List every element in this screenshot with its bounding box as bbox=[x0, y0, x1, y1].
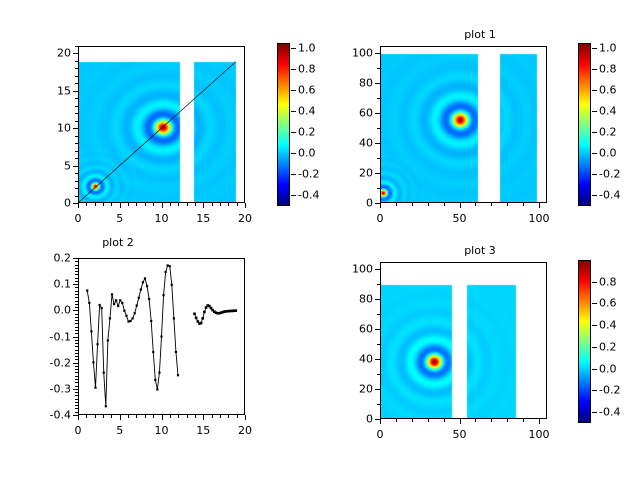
line-data-point bbox=[148, 298, 150, 300]
y-axis-minor-tick bbox=[75, 143, 78, 144]
y-axis-minor-tick bbox=[377, 68, 380, 69]
x-axis-minor-tick bbox=[128, 203, 129, 206]
panel-top-right-title: plot 1 bbox=[320, 28, 640, 41]
x-axis-minor-tick bbox=[178, 415, 179, 418]
line-data-point bbox=[156, 388, 158, 390]
y-axis-minor-tick bbox=[377, 344, 380, 345]
y-axis-tick-label: -0.2 bbox=[30, 356, 71, 369]
line-data-point bbox=[101, 307, 103, 309]
x-axis-minor-tick bbox=[428, 419, 429, 422]
x-axis-minor-tick bbox=[396, 419, 397, 422]
line-data-point bbox=[123, 310, 125, 312]
y-axis-tick-label: 80 bbox=[332, 293, 373, 306]
y-axis-tick-label: 15 bbox=[30, 84, 71, 97]
y-axis-minor-tick bbox=[75, 106, 78, 107]
x-axis-minor-tick bbox=[170, 415, 171, 418]
x-axis-minor-tick bbox=[187, 415, 188, 418]
line-data-point bbox=[92, 361, 94, 363]
line-data-point bbox=[111, 293, 113, 295]
colorbar-tick bbox=[592, 195, 597, 196]
colorbar-tick-label: -0.2 bbox=[599, 384, 620, 397]
x-axis-minor-tick bbox=[237, 415, 238, 418]
y-axis-minor-tick bbox=[75, 258, 78, 259]
x-axis-minor-tick bbox=[86, 415, 87, 418]
line-data-point bbox=[96, 343, 98, 345]
y-axis-tick-label: 40 bbox=[332, 137, 373, 150]
x-axis-minor-tick bbox=[162, 203, 163, 206]
line-data-point bbox=[146, 285, 148, 287]
panel-top-right: plot 1 020406080100050100 1.00.80.60.40.… bbox=[320, 0, 640, 240]
y-axis-minor-tick bbox=[75, 297, 78, 298]
y-axis-minor-tick bbox=[377, 284, 380, 285]
colorbar-tick bbox=[592, 48, 597, 49]
colorbar-tick bbox=[592, 111, 597, 112]
x-axis-minor-tick bbox=[162, 415, 163, 418]
x-axis-minor-tick bbox=[103, 203, 104, 206]
y-axis-minor-tick bbox=[75, 317, 78, 318]
y-axis-minor-tick bbox=[377, 83, 380, 84]
y-axis-minor-tick bbox=[75, 356, 78, 357]
line-data-point bbox=[129, 320, 131, 322]
y-axis-minor-tick bbox=[75, 281, 78, 282]
line-data-point bbox=[200, 322, 203, 325]
line-data-point bbox=[99, 304, 101, 306]
x-axis-tick-label: 0 bbox=[75, 212, 82, 225]
line-data-point bbox=[117, 305, 119, 307]
line-data-point bbox=[150, 320, 152, 322]
y-axis-minor-tick bbox=[75, 278, 78, 279]
line-data-point bbox=[113, 303, 115, 305]
panel-bottom-right-heatmap bbox=[381, 263, 546, 418]
x-axis-minor-tick bbox=[136, 203, 137, 206]
panel-bottom-left: plot 2 0.20.10.0-0.1-0.2-0.3-0.405101520 bbox=[0, 240, 320, 480]
colorbar-tick-label: 0.8 bbox=[599, 63, 617, 76]
x-axis-minor-tick bbox=[153, 415, 154, 418]
panel-top-right-heatmap bbox=[381, 47, 546, 202]
y-axis-minor-tick bbox=[75, 181, 78, 182]
line-data-point bbox=[165, 271, 167, 273]
y-axis-minor-tick bbox=[75, 386, 78, 387]
colorbar-tick bbox=[291, 111, 296, 112]
colorbar-tick bbox=[592, 90, 597, 91]
y-axis-minor-tick bbox=[75, 408, 78, 409]
line-series-path bbox=[195, 306, 236, 324]
line-data-point bbox=[134, 312, 136, 314]
colorbar-tick bbox=[291, 69, 296, 70]
colorbar-tick bbox=[291, 48, 296, 49]
colorbar-tick-label: 0.8 bbox=[298, 63, 316, 76]
x-axis-minor-tick bbox=[412, 203, 413, 206]
colorbar-tick-label: 0.0 bbox=[599, 362, 617, 375]
colorbar-tick-label: 0.6 bbox=[298, 84, 316, 97]
y-axis-minor-tick bbox=[75, 301, 78, 302]
x-axis-minor-tick bbox=[95, 415, 96, 418]
x-axis-minor-tick bbox=[491, 419, 492, 422]
y-axis-minor-tick bbox=[75, 372, 78, 373]
y-axis-minor-tick bbox=[75, 166, 78, 167]
y-axis-tick-label: 0.2 bbox=[30, 252, 71, 265]
y-axis-minor-tick bbox=[377, 188, 380, 189]
y-axis-minor-tick bbox=[75, 196, 78, 197]
y-axis-minor-tick bbox=[75, 271, 78, 272]
colorbar-tick-label: 0.2 bbox=[599, 340, 617, 353]
line-data-point bbox=[140, 288, 142, 290]
colorbar-tick bbox=[291, 153, 296, 154]
line-data-point bbox=[171, 284, 173, 286]
x-axis-minor-tick bbox=[396, 203, 397, 206]
x-axis-minor-tick bbox=[523, 419, 524, 422]
x-axis-tick-label: 10 bbox=[155, 424, 169, 437]
line-series-path bbox=[87, 265, 178, 406]
y-axis-minor-tick bbox=[377, 53, 380, 54]
x-axis-minor-tick bbox=[220, 415, 221, 418]
line-data-point bbox=[234, 309, 237, 312]
panel-top-left-diagonal-line bbox=[79, 47, 244, 202]
x-axis-minor-tick bbox=[380, 419, 381, 422]
x-axis-minor-tick bbox=[245, 203, 246, 206]
y-axis-minor-tick bbox=[75, 314, 78, 315]
y-axis-minor-tick bbox=[75, 399, 78, 400]
colorbar-tick-label: 0.8 bbox=[599, 275, 617, 288]
x-axis-minor-tick bbox=[86, 203, 87, 206]
x-axis-tick-label: 20 bbox=[238, 212, 252, 225]
line-data-point bbox=[109, 317, 111, 319]
x-axis-minor-tick bbox=[120, 415, 121, 418]
colorbar-tick-label: 0.0 bbox=[298, 147, 316, 160]
colorbar-tick-label: -0.4 bbox=[599, 189, 620, 202]
y-axis-tick-label: 0 bbox=[30, 197, 71, 210]
y-axis-tick-label: 10 bbox=[30, 122, 71, 135]
line-data-point bbox=[173, 317, 175, 319]
y-axis-minor-tick bbox=[75, 337, 78, 338]
y-axis-minor-tick bbox=[75, 113, 78, 114]
colorbar-tick bbox=[592, 325, 597, 326]
y-axis-minor-tick bbox=[75, 188, 78, 189]
y-axis-minor-tick bbox=[75, 53, 78, 54]
y-axis-minor-tick bbox=[75, 91, 78, 92]
line-data-point bbox=[167, 264, 169, 266]
y-axis-minor-tick bbox=[377, 158, 380, 159]
line-data-point bbox=[201, 317, 204, 320]
line-data-point bbox=[154, 379, 156, 381]
x-axis-minor-tick bbox=[212, 203, 213, 206]
colorbar-tick bbox=[592, 69, 597, 70]
x-axis-minor-tick bbox=[103, 415, 104, 418]
y-axis-minor-tick bbox=[75, 121, 78, 122]
x-axis-minor-tick bbox=[507, 203, 508, 206]
x-axis-minor-tick bbox=[444, 419, 445, 422]
x-axis-tick-label: 0 bbox=[377, 428, 384, 441]
colorbar-tick-label: 0.4 bbox=[599, 319, 617, 332]
x-axis-minor-tick bbox=[412, 419, 413, 422]
colorbar-tick-label: 1.0 bbox=[599, 42, 617, 55]
y-axis-minor-tick bbox=[75, 173, 78, 174]
line-data-point bbox=[144, 277, 146, 279]
y-axis-tick-label: 100 bbox=[332, 263, 373, 276]
y-axis-minor-tick bbox=[75, 359, 78, 360]
line-data-point bbox=[107, 339, 109, 341]
x-axis-minor-tick bbox=[195, 415, 196, 418]
x-axis-minor-tick bbox=[111, 203, 112, 206]
colorbar-tick-label: 0.2 bbox=[298, 126, 316, 139]
y-axis-tick-label: 20 bbox=[332, 167, 373, 180]
panel-bottom-right-title: plot 3 bbox=[320, 244, 640, 257]
y-axis-minor-tick bbox=[377, 143, 380, 144]
y-axis-minor-tick bbox=[75, 402, 78, 403]
line-data-point bbox=[121, 302, 123, 304]
y-axis-minor-tick bbox=[75, 268, 78, 269]
y-axis-minor-tick bbox=[75, 291, 78, 292]
x-axis-tick-label: 5 bbox=[116, 212, 123, 225]
y-axis-minor-tick bbox=[75, 327, 78, 328]
y-axis-minor-tick bbox=[75, 128, 78, 129]
colorbar-tick bbox=[291, 132, 296, 133]
x-axis-minor-tick bbox=[475, 203, 476, 206]
colorbar-tick-label: -0.4 bbox=[599, 406, 620, 419]
line-data-point bbox=[195, 317, 198, 320]
y-axis-minor-tick bbox=[75, 307, 78, 308]
x-axis-minor-tick bbox=[444, 203, 445, 206]
colorbar-tick bbox=[592, 369, 597, 370]
y-axis-minor-tick bbox=[377, 359, 380, 360]
colorbar-tick-label: -0.4 bbox=[298, 189, 319, 202]
colorbar-tick-label: 0.0 bbox=[599, 147, 617, 160]
x-axis-tick-label: 15 bbox=[196, 212, 210, 225]
x-axis-tick-label: 50 bbox=[453, 212, 467, 225]
y-axis-minor-tick bbox=[75, 294, 78, 295]
y-axis-tick-label: -0.4 bbox=[30, 409, 71, 422]
line-data-point bbox=[162, 294, 164, 296]
y-axis-minor-tick bbox=[75, 61, 78, 62]
line-data-point bbox=[119, 299, 121, 301]
y-axis-tick-label: 0 bbox=[332, 413, 373, 426]
y-axis-tick-label: -0.1 bbox=[30, 330, 71, 343]
colorbar-tick bbox=[291, 90, 296, 91]
y-axis-minor-tick bbox=[75, 46, 78, 47]
colorbar-tick-label: -0.2 bbox=[298, 168, 319, 181]
line-data-point bbox=[127, 320, 129, 322]
x-axis-minor-tick bbox=[380, 203, 381, 206]
x-axis-minor-tick bbox=[95, 203, 96, 206]
x-axis-tick-label: 10 bbox=[155, 212, 169, 225]
y-axis-minor-tick bbox=[75, 350, 78, 351]
x-axis-minor-tick bbox=[78, 203, 79, 206]
x-axis-minor-tick bbox=[203, 415, 204, 418]
colorbar-tick-label: 0.4 bbox=[599, 105, 617, 118]
line-data-point bbox=[115, 299, 117, 301]
y-axis-tick-label: -0.3 bbox=[30, 382, 71, 395]
line-data-point bbox=[175, 351, 177, 353]
y-axis-minor-tick bbox=[75, 136, 78, 137]
line-data-point bbox=[136, 304, 138, 306]
colorbar-tick bbox=[592, 347, 597, 348]
y-axis-tick-label: 0 bbox=[332, 197, 373, 210]
y-axis-minor-tick bbox=[377, 113, 380, 114]
x-axis-minor-tick bbox=[145, 415, 146, 418]
y-axis-minor-tick bbox=[75, 340, 78, 341]
figure-canvas: 0510152005101520 1.00.80.60.40.20.0-0.2-… bbox=[0, 0, 640, 480]
x-axis-tick-label: 100 bbox=[529, 428, 550, 441]
x-axis-minor-tick bbox=[539, 419, 540, 422]
y-axis-minor-tick bbox=[377, 389, 380, 390]
x-axis-minor-tick bbox=[170, 203, 171, 206]
colorbar-tick-label: 0.6 bbox=[599, 84, 617, 97]
line-data-point bbox=[142, 281, 144, 283]
y-axis-tick-label: 0.1 bbox=[30, 278, 71, 291]
colorbar-tick-label: 1.0 bbox=[298, 42, 316, 55]
y-axis-minor-tick bbox=[75, 330, 78, 331]
x-axis-minor-tick bbox=[78, 415, 79, 418]
x-axis-minor-tick bbox=[475, 419, 476, 422]
colorbar-tick bbox=[592, 282, 597, 283]
y-axis-minor-tick bbox=[75, 405, 78, 406]
y-axis-minor-tick bbox=[75, 158, 78, 159]
x-axis-tick-label: 100 bbox=[529, 212, 550, 225]
y-axis-minor-tick bbox=[377, 314, 380, 315]
x-axis-minor-tick bbox=[245, 415, 246, 418]
x-axis-minor-tick bbox=[228, 203, 229, 206]
colorbar-tick-label: 0.4 bbox=[298, 105, 316, 118]
colorbar-tick bbox=[291, 195, 296, 196]
y-axis-minor-tick bbox=[377, 98, 380, 99]
x-axis-minor-tick bbox=[220, 203, 221, 206]
colorbar-tick bbox=[592, 412, 597, 413]
x-axis-minor-tick bbox=[460, 419, 461, 422]
y-axis-minor-tick bbox=[75, 343, 78, 344]
x-axis-minor-tick bbox=[428, 203, 429, 206]
y-axis-minor-tick bbox=[75, 353, 78, 354]
colorbar-tick bbox=[592, 153, 597, 154]
line-data-point bbox=[152, 351, 154, 353]
panel-top-left: 0510152005101520 1.00.80.60.40.20.0-0.2-… bbox=[0, 0, 320, 240]
y-axis-minor-tick bbox=[75, 376, 78, 377]
y-axis-tick-label: 20 bbox=[332, 383, 373, 396]
line-data-point bbox=[86, 289, 88, 291]
colorbar-tick bbox=[291, 174, 296, 175]
y-axis-minor-tick bbox=[377, 269, 380, 270]
y-axis-tick-label: 60 bbox=[332, 323, 373, 336]
y-axis-minor-tick bbox=[75, 287, 78, 288]
line-data-point bbox=[169, 265, 171, 267]
panel-bottom-right-colorbar bbox=[578, 260, 591, 423]
colorbar-tick bbox=[592, 390, 597, 391]
y-axis-minor-tick bbox=[75, 265, 78, 266]
y-axis-minor-tick bbox=[75, 379, 78, 380]
line-data-point bbox=[103, 372, 105, 374]
x-axis-tick-label: 15 bbox=[196, 424, 210, 437]
y-axis-tick-label: 5 bbox=[30, 159, 71, 172]
y-axis-tick-label: 100 bbox=[332, 47, 373, 60]
line-data-point bbox=[132, 317, 134, 319]
line-data-point bbox=[138, 297, 140, 299]
y-axis-tick-label: 80 bbox=[332, 77, 373, 90]
x-axis-minor-tick bbox=[507, 419, 508, 422]
y-axis-tick-label: 0.0 bbox=[30, 304, 71, 317]
colorbar-tick-label: 0.2 bbox=[599, 126, 617, 139]
colorbar-tick-label: 0.6 bbox=[599, 297, 617, 310]
y-axis-minor-tick bbox=[75, 412, 78, 413]
line-data-point bbox=[177, 374, 179, 376]
y-axis-tick-label: 40 bbox=[332, 353, 373, 366]
colorbar-tick bbox=[592, 174, 597, 175]
y-axis-minor-tick bbox=[75, 333, 78, 334]
line-data-point bbox=[158, 372, 160, 374]
x-axis-minor-tick bbox=[203, 203, 204, 206]
x-axis-minor-tick bbox=[212, 415, 213, 418]
x-axis-tick-label: 0 bbox=[75, 424, 82, 437]
x-axis-minor-tick bbox=[460, 203, 461, 206]
panel-bottom-left-title: plot 2 bbox=[0, 236, 278, 249]
line-data-point bbox=[90, 330, 92, 332]
x-axis-tick-label: 50 bbox=[453, 428, 467, 441]
x-axis-tick-label: 5 bbox=[116, 424, 123, 437]
line-data-point bbox=[193, 312, 196, 315]
y-axis-minor-tick bbox=[75, 323, 78, 324]
y-axis-minor-tick bbox=[75, 346, 78, 347]
y-axis-minor-tick bbox=[75, 320, 78, 321]
y-axis-minor-tick bbox=[75, 363, 78, 364]
x-axis-minor-tick bbox=[237, 203, 238, 206]
y-axis-minor-tick bbox=[377, 128, 380, 129]
x-axis-minor-tick bbox=[523, 203, 524, 206]
panel-top-left-colorbar bbox=[277, 43, 290, 206]
y-axis-minor-tick bbox=[377, 299, 380, 300]
y-axis-minor-tick bbox=[75, 261, 78, 262]
x-axis-minor-tick bbox=[136, 415, 137, 418]
x-axis-minor-tick bbox=[153, 203, 154, 206]
line-data-point bbox=[94, 387, 96, 389]
y-axis-minor-tick bbox=[75, 274, 78, 275]
colorbar-tick bbox=[592, 303, 597, 304]
line-data-point bbox=[88, 302, 90, 304]
y-axis-minor-tick bbox=[75, 151, 78, 152]
line-data-point bbox=[105, 405, 107, 407]
y-axis-minor-tick bbox=[75, 68, 78, 69]
y-axis-minor-tick bbox=[75, 366, 78, 367]
line-data-point bbox=[125, 315, 127, 317]
y-axis-minor-tick bbox=[75, 310, 78, 311]
y-axis-minor-tick bbox=[75, 395, 78, 396]
x-axis-minor-tick bbox=[178, 203, 179, 206]
x-axis-minor-tick bbox=[145, 203, 146, 206]
y-axis-minor-tick bbox=[377, 404, 380, 405]
panel-bottom-right: plot 3 020406080100050100 0.80.60.40.20.… bbox=[320, 240, 640, 480]
x-axis-minor-tick bbox=[111, 415, 112, 418]
colorbar-tick-label: -0.2 bbox=[599, 168, 620, 181]
y-axis-minor-tick bbox=[75, 382, 78, 383]
x-axis-minor-tick bbox=[195, 203, 196, 206]
y-axis-tick-label: 20 bbox=[30, 47, 71, 60]
x-axis-minor-tick bbox=[491, 203, 492, 206]
y-axis-minor-tick bbox=[75, 76, 78, 77]
x-axis-minor-tick bbox=[539, 203, 540, 206]
panel-top-right-colorbar bbox=[578, 43, 591, 206]
y-axis-minor-tick bbox=[75, 284, 78, 285]
x-axis-minor-tick bbox=[187, 203, 188, 206]
y-axis-minor-tick bbox=[377, 329, 380, 330]
y-axis-minor-tick bbox=[75, 98, 78, 99]
y-axis-tick-label: 60 bbox=[332, 107, 373, 120]
line-data-point bbox=[203, 311, 206, 314]
y-axis-minor-tick bbox=[377, 173, 380, 174]
x-axis-tick-label: 0 bbox=[377, 212, 384, 225]
x-axis-minor-tick bbox=[228, 415, 229, 418]
y-axis-minor-tick bbox=[377, 374, 380, 375]
y-axis-minor-tick bbox=[75, 304, 78, 305]
x-axis-minor-tick bbox=[120, 203, 121, 206]
y-axis-minor-tick bbox=[75, 389, 78, 390]
x-axis-tick-label: 20 bbox=[238, 424, 252, 437]
